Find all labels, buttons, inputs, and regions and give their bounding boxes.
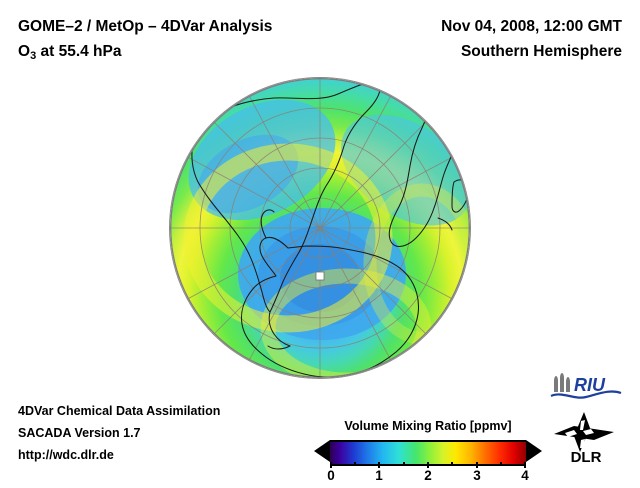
footer-line-3: http://wdc.dlr.de <box>18 444 220 466</box>
colorbar-label-0: 0 <box>327 468 335 483</box>
colorbar-tick-labels: 0 1 2 3 4 <box>330 468 526 488</box>
colorbar-label-1: 1 <box>375 468 383 483</box>
footer-line-2: SACADA Version 1.7 <box>18 422 220 444</box>
footer-line-1: 4DVar Chemical Data Assimilation <box>18 400 220 422</box>
colorbar-label-2: 2 <box>424 468 432 483</box>
colorbar-row: 0 1 2 3 4 <box>312 440 544 462</box>
header-right: Nov 04, 2008, 12:00 GMT Southern Hemisph… <box>441 14 622 64</box>
colorbar-label-4: 4 <box>521 468 529 483</box>
colorbar-title: Volume Mixing Ratio [ppmv] <box>312 419 544 433</box>
species-level: at 55.4 hPa <box>36 43 121 60</box>
instrument-title: GOME–2 / MetOp – 4DVar Analysis <box>18 14 272 39</box>
dlr-logo: DLR <box>550 412 622 464</box>
south-pole-marker <box>316 272 324 280</box>
ozone-field <box>170 78 470 378</box>
colorbar-extend-high-icon <box>526 440 542 462</box>
globe-disc <box>170 78 470 378</box>
colorbar: Volume Mixing Ratio [ppmv] 0 1 2 3 <box>312 419 544 462</box>
map-globe <box>170 78 470 378</box>
figure-canvas: GOME–2 / MetOp – 4DVar Analysis O3 at 55… <box>0 0 640 480</box>
species-title: O3 at 55.4 hPa <box>18 39 272 69</box>
colorbar-extend-low-icon <box>314 440 330 462</box>
colorbar-label-3: 3 <box>473 468 481 483</box>
footer-credits: 4DVar Chemical Data Assimilation SACADA … <box>18 400 220 466</box>
region-label: Southern Hemisphere <box>441 39 622 64</box>
datetime-label: Nov 04, 2008, 12:00 GMT <box>441 14 622 39</box>
riu-logo: RIU <box>548 372 624 402</box>
header-left: GOME–2 / MetOp – 4DVar Analysis O3 at 55… <box>18 14 272 69</box>
dlr-logo-text: DLR <box>571 449 602 464</box>
species-symbol: O <box>18 43 30 60</box>
